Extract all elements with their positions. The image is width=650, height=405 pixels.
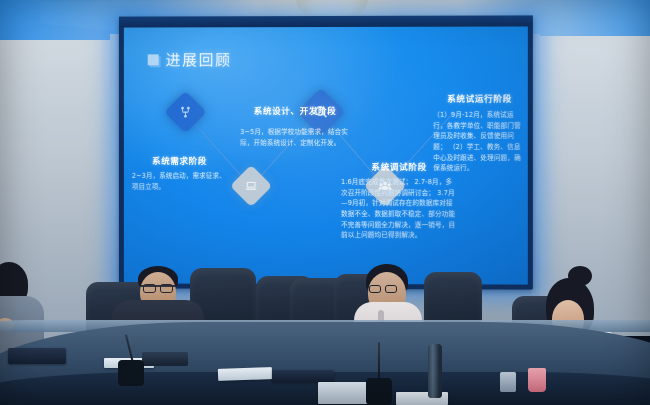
book-stack	[8, 348, 66, 364]
room-foreground	[0, 0, 650, 405]
hair-bun	[568, 266, 592, 286]
glass-cup	[500, 372, 516, 392]
closed-laptop	[142, 352, 188, 366]
glasses-icon	[369, 285, 399, 293]
glasses-lens-left	[143, 284, 156, 293]
screenshot-scene: 进展回顾	[0, 0, 650, 405]
water-bottle	[428, 344, 442, 398]
notebook	[272, 370, 334, 382]
papers	[218, 367, 272, 381]
drink-cup	[528, 368, 546, 392]
glasses-lens-right	[160, 284, 173, 293]
microphone-left	[118, 360, 144, 386]
microphone-stalk-center	[378, 342, 380, 380]
microphone-center	[366, 378, 392, 405]
